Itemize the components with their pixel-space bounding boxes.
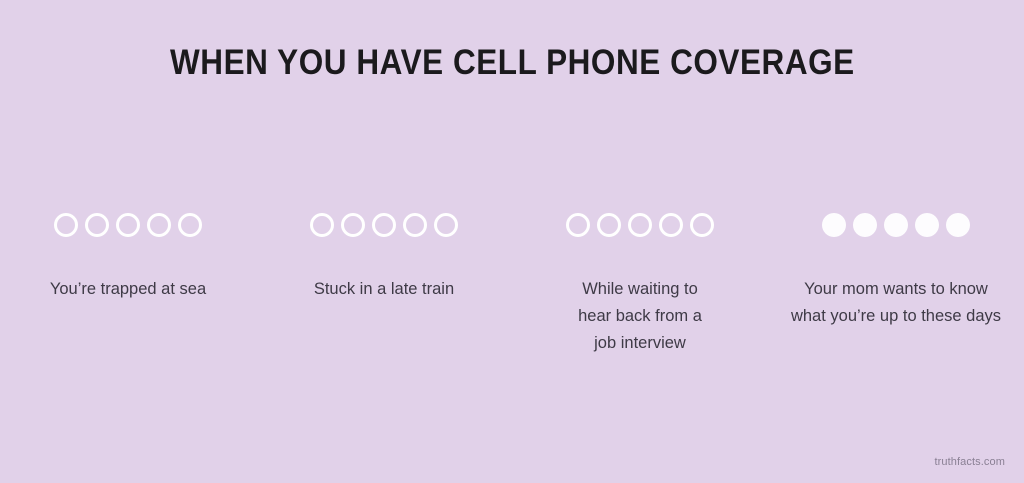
signal-dots-trapped-at-sea <box>54 206 202 244</box>
signal-dot-filled-icon <box>884 213 908 237</box>
signal-dot-empty-icon <box>310 213 334 237</box>
chart-column-caption: Your mom wants to know what you’re up to… <box>791 276 1001 330</box>
signal-dot-filled-icon <box>853 213 877 237</box>
chart-column-job-interview: While waiting to hear back from a job in… <box>512 206 768 357</box>
signal-dot-empty-icon <box>85 213 109 237</box>
signal-dot-empty-icon <box>566 213 590 237</box>
chart-column-mom-wants-to-know: Your mom wants to know what you’re up to… <box>768 206 1024 330</box>
signal-dot-empty-icon <box>434 213 458 237</box>
infographic-canvas: WHEN YOU HAVE CELL PHONE COVERAGE You’re… <box>0 0 1024 483</box>
signal-dot-empty-icon <box>116 213 140 237</box>
signal-dot-empty-icon <box>690 213 714 237</box>
signal-dot-filled-icon <box>946 213 970 237</box>
signal-dot-empty-icon <box>341 213 365 237</box>
chart-column-trapped-at-sea: You’re trapped at sea <box>0 206 256 303</box>
signal-dots-mom-wants-to-know <box>822 206 970 244</box>
signal-dot-empty-icon <box>372 213 396 237</box>
page-title: WHEN YOU HAVE CELL PHONE COVERAGE <box>170 44 855 82</box>
title-container: WHEN YOU HAVE CELL PHONE COVERAGE <box>0 44 1024 82</box>
chart-column-caption: You’re trapped at sea <box>50 276 206 303</box>
signal-dot-empty-icon <box>403 213 427 237</box>
signal-dot-filled-icon <box>915 213 939 237</box>
chart-column-caption: Stuck in a late train <box>314 276 454 303</box>
signal-dots-late-train <box>310 206 458 244</box>
signal-dots-job-interview <box>566 206 714 244</box>
chart-column-caption: While waiting to hear back from a job in… <box>578 276 702 357</box>
signal-dot-empty-icon <box>178 213 202 237</box>
chart-column-late-train: Stuck in a late train <box>256 206 512 303</box>
signal-dot-empty-icon <box>147 213 171 237</box>
signal-dot-filled-icon <box>822 213 846 237</box>
signal-dot-empty-icon <box>597 213 621 237</box>
signal-dot-empty-icon <box>54 213 78 237</box>
signal-dot-empty-icon <box>659 213 683 237</box>
signal-dot-empty-icon <box>628 213 652 237</box>
chart-columns: You’re trapped at sea Stuck in a late tr… <box>0 206 1024 357</box>
source-watermark: truthfacts.com <box>935 456 1005 469</box>
